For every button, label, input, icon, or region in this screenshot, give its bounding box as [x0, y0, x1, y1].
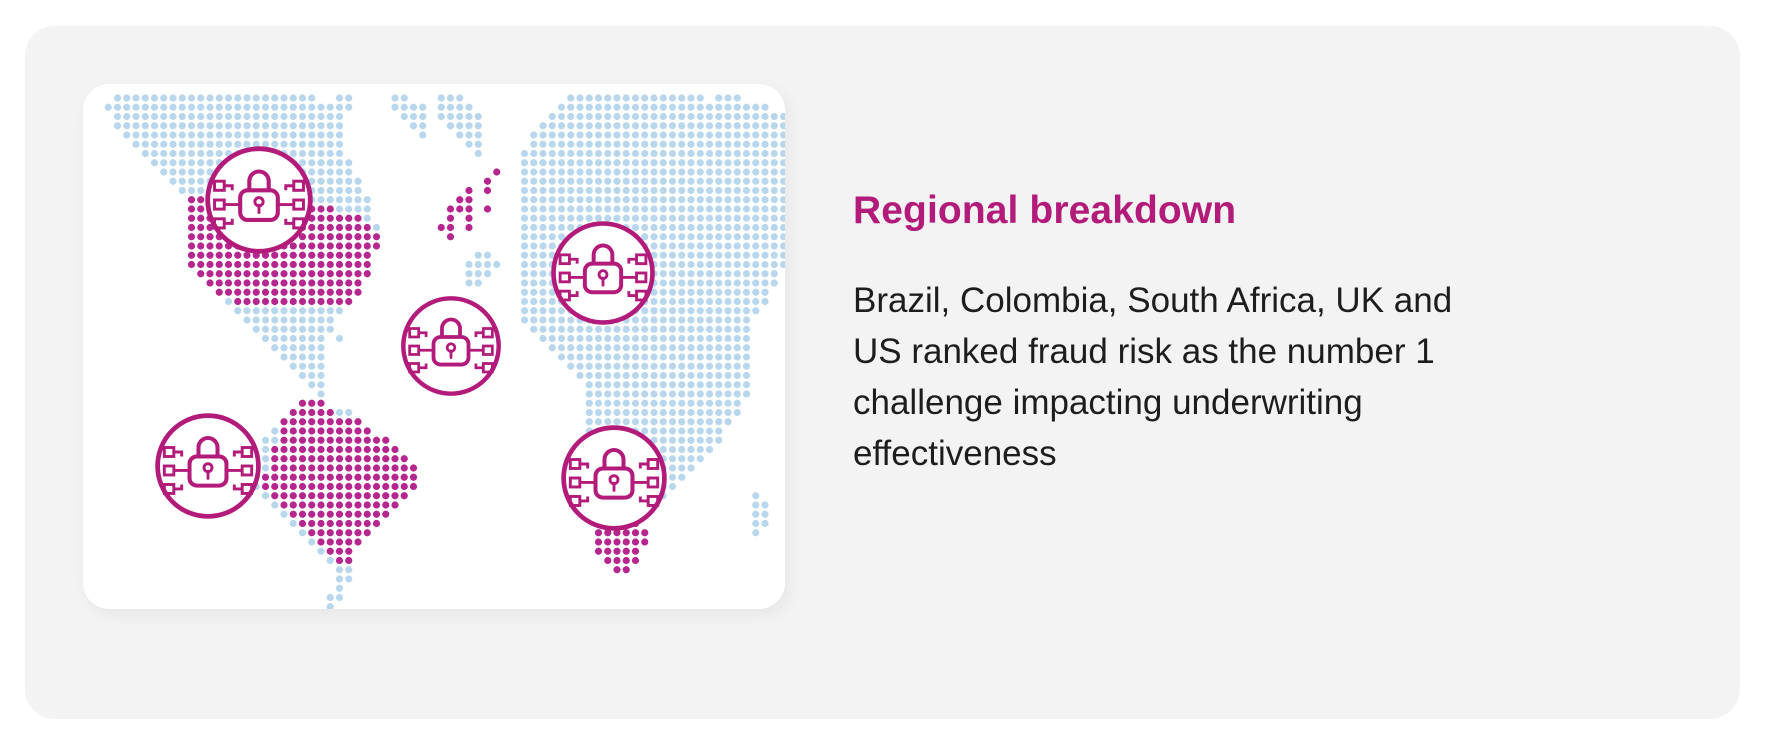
world-dot-map: [83, 84, 785, 609]
lock-network-icon: [403, 298, 498, 393]
body-paragraph: Brazil, Colombia, South Africa, UK and U…: [853, 275, 1498, 479]
marker-south-america[interactable]: [158, 416, 259, 517]
marker-europe-uk[interactable]: [554, 224, 653, 323]
page-title: Regional breakdown: [853, 190, 1553, 233]
lock-network-icon: [158, 416, 259, 517]
marker-north-america[interactable]: [208, 149, 311, 252]
regional-breakdown-card: Regional breakdown Brazil, Colombia, Sou…: [25, 26, 1740, 719]
marker-atlantic[interactable]: [403, 298, 498, 393]
world-map-panel: [83, 84, 785, 609]
lock-network-icon: [554, 224, 653, 323]
marker-africa[interactable]: [564, 428, 665, 529]
page-root: Regional breakdown Brazil, Colombia, Sou…: [0, 0, 1770, 745]
lock-network-icon: [208, 149, 311, 252]
text-column: Regional breakdown Brazil, Colombia, Sou…: [853, 190, 1553, 479]
lock-network-icon: [564, 428, 665, 529]
